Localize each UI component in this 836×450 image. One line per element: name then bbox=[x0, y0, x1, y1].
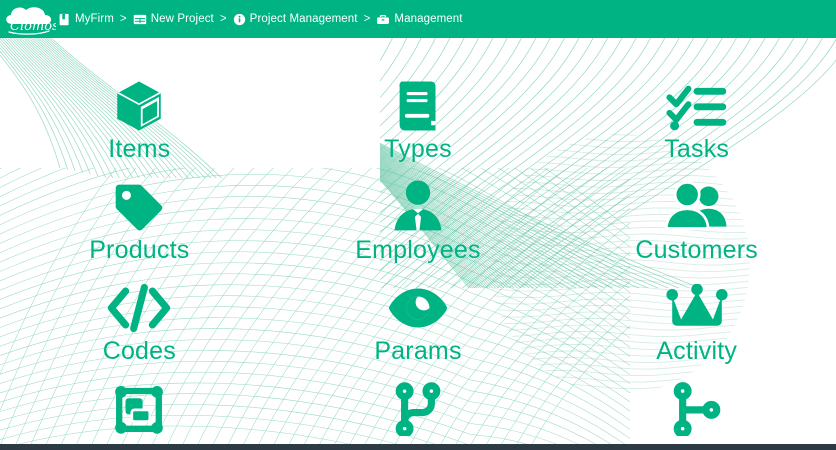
code-branch-alt-icon bbox=[671, 381, 723, 437]
info-circle-icon bbox=[233, 13, 246, 26]
images-frame-icon bbox=[111, 381, 167, 437]
tile-codes[interactable]: Codes bbox=[0, 280, 279, 381]
tile-label: Tasks bbox=[664, 136, 729, 162]
tile-label: Types bbox=[384, 136, 452, 162]
breadcrumb-label: Management bbox=[394, 13, 462, 25]
app-root: Clomosy MyFirm > bbox=[0, 0, 836, 450]
breadcrumb-label: MyFirm bbox=[75, 13, 114, 25]
tile-params[interactable]: Params bbox=[279, 280, 558, 381]
tile-code-branch[interactable] bbox=[279, 381, 558, 450]
app-header: Clomosy MyFirm > bbox=[0, 0, 836, 38]
svg-text:Clomosy: Clomosy bbox=[10, 19, 56, 34]
breadcrumb-item-myfirm[interactable]: MyFirm bbox=[58, 13, 114, 26]
breadcrumb-item-project-management[interactable]: Project Management bbox=[233, 13, 358, 26]
breadcrumb: MyFirm > New Project > bbox=[58, 0, 463, 38]
tile-label: Products bbox=[89, 237, 189, 263]
tile-customers[interactable]: Customers bbox=[557, 179, 836, 280]
tile-items[interactable]: Items bbox=[0, 78, 279, 179]
bottom-bar bbox=[0, 444, 836, 450]
table-grid-icon bbox=[133, 13, 147, 26]
tile-label: Employees bbox=[355, 237, 480, 263]
tile-images[interactable] bbox=[0, 381, 279, 450]
tile-tasks[interactable]: Tasks bbox=[557, 78, 836, 179]
code-brackets-icon bbox=[106, 280, 172, 336]
book-icon bbox=[392, 78, 444, 134]
eye-icon bbox=[387, 280, 449, 336]
breadcrumb-item-new-project[interactable]: New Project bbox=[133, 13, 214, 26]
tile-label: Activity bbox=[656, 338, 737, 364]
tile-label: Customers bbox=[635, 237, 758, 263]
crown-icon bbox=[666, 280, 728, 336]
code-branch-icon bbox=[393, 381, 443, 437]
tile-employees[interactable]: Employees bbox=[279, 179, 558, 280]
breadcrumb-label: New Project bbox=[151, 13, 214, 25]
briefcase-icon bbox=[376, 13, 390, 26]
tag-icon bbox=[110, 179, 168, 235]
cube-icon bbox=[110, 78, 168, 134]
tile-products[interactable]: Products bbox=[0, 179, 279, 280]
module-grid: Items Types bbox=[0, 38, 836, 450]
tile-label: Items bbox=[108, 136, 170, 162]
tile-code-branch-alt[interactable] bbox=[557, 381, 836, 450]
tile-label: Params bbox=[374, 338, 461, 364]
breadcrumb-separator: > bbox=[214, 13, 233, 25]
clomosy-logo[interactable]: Clomosy bbox=[0, 0, 58, 38]
tile-activity[interactable]: Activity bbox=[557, 280, 836, 381]
user-tie-icon bbox=[391, 179, 445, 235]
users-icon bbox=[664, 179, 730, 235]
breadcrumb-separator: > bbox=[114, 13, 133, 25]
tile-types[interactable]: Types bbox=[279, 78, 558, 179]
book-bookmark-icon bbox=[58, 13, 71, 26]
breadcrumb-label: Project Management bbox=[250, 13, 358, 25]
breadcrumb-separator: > bbox=[358, 13, 377, 25]
tile-label: Codes bbox=[103, 338, 176, 364]
breadcrumb-item-management[interactable]: Management bbox=[376, 13, 462, 26]
tasks-checklist-icon bbox=[666, 78, 728, 134]
